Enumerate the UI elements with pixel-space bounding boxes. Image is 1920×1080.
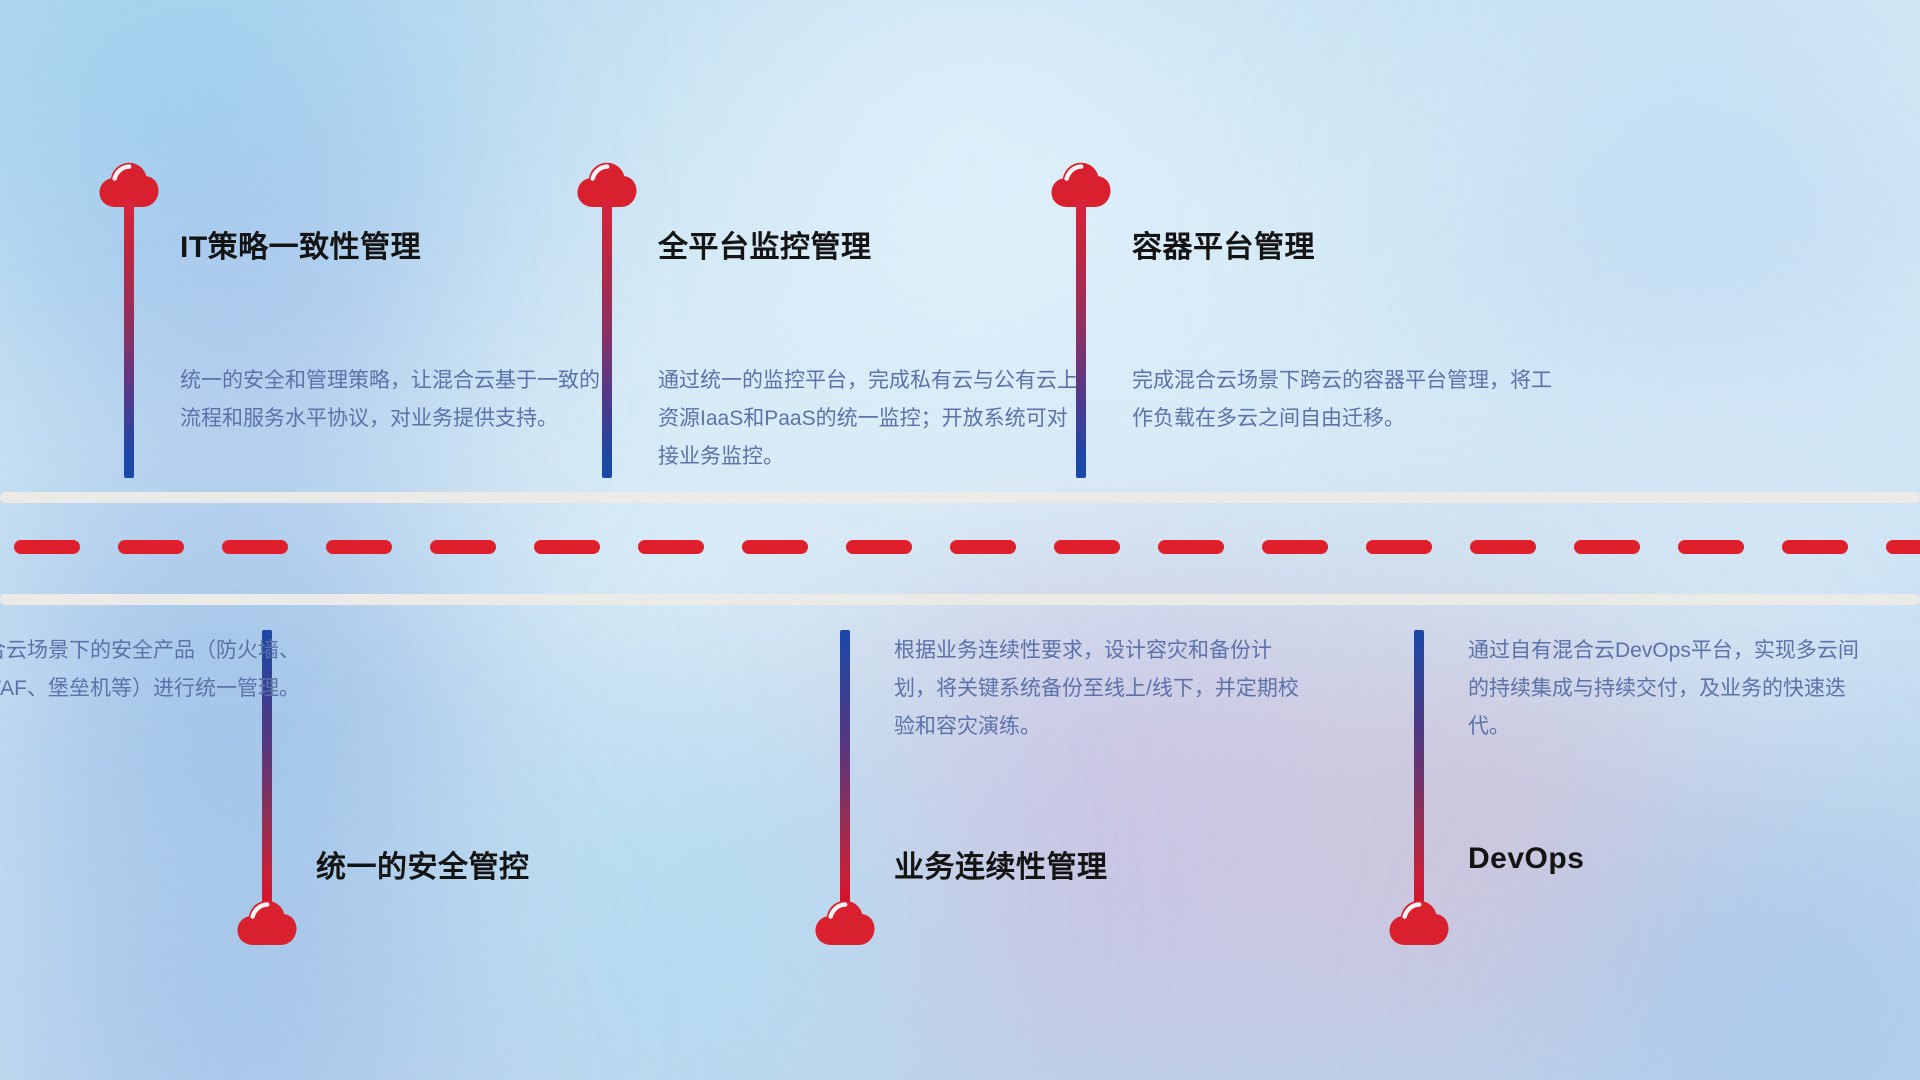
pin-stem: [124, 200, 134, 478]
column-title: 全平台监控管理: [658, 222, 872, 266]
road-dash: [1470, 540, 1536, 554]
road-dash: [326, 540, 392, 554]
pin-stem: [602, 200, 612, 478]
road-dash: [222, 540, 288, 554]
road-dash: [1262, 540, 1328, 554]
road-line-top: [0, 492, 1920, 503]
road-dash: [846, 540, 912, 554]
pin-stem: [840, 630, 850, 902]
road-dash: [950, 540, 1016, 554]
column-body-text: 根据业务连续性要求，设计容灾和备份计划，将关键系统备份至线上/线下，并定期校验和…: [894, 632, 1306, 746]
pin-stem: [1414, 630, 1424, 902]
column-body-text: 完成混合云场景下跨云的容器平台管理，将工作负载在多云之间自由迁移。: [1132, 362, 1562, 438]
column-title: IT策略一致性管理: [180, 222, 421, 266]
column-body-text: 通过自有混合云DevOps平台，实现多云间的持续集成与持续交付，及业务的快速迭代…: [1468, 632, 1868, 746]
column-title: 统一的安全管控: [316, 842, 530, 886]
column-title: 容器平台管理: [1132, 222, 1315, 266]
cloud-icon: [1388, 900, 1450, 946]
road-dash: [1782, 540, 1848, 554]
road-dash: [742, 540, 808, 554]
road-dash: [638, 540, 704, 554]
road-dash: [1574, 540, 1640, 554]
pin-stem: [1076, 200, 1086, 478]
road-dash: [14, 540, 80, 554]
column-body-text: 对于混合云场景下的安全产品（防火墙、WAF、堡垒机等）进行统一管理。: [0, 632, 300, 708]
cloud-icon: [814, 900, 876, 946]
road-dash: [1678, 540, 1744, 554]
road-line-bottom: [0, 594, 1920, 605]
road-dash: [430, 540, 496, 554]
road-dash: [118, 540, 184, 554]
cloud-icon: [236, 900, 298, 946]
road-dashed-centerline: [0, 540, 1920, 554]
infographic-canvas: IT策略一致性管理 统一的安全和管理策略，让混合云基于一致的流程和服务水平协议，…: [0, 0, 1920, 1080]
column-title: 业务连续性管理: [894, 842, 1108, 886]
column-body-text: 统一的安全和管理策略，让混合云基于一致的流程和服务水平协议，对业务提供支持。: [180, 362, 610, 438]
road-dash: [1366, 540, 1432, 554]
column-body-text: 通过统一的监控平台，完成私有云与公有云上资源IaaS和PaaS的统一监控；开放系…: [658, 362, 1088, 476]
road-dash: [1886, 540, 1920, 554]
column-title: DevOps: [1468, 842, 1584, 876]
road-dash: [1158, 540, 1224, 554]
road-dash: [1054, 540, 1120, 554]
road-dash: [534, 540, 600, 554]
